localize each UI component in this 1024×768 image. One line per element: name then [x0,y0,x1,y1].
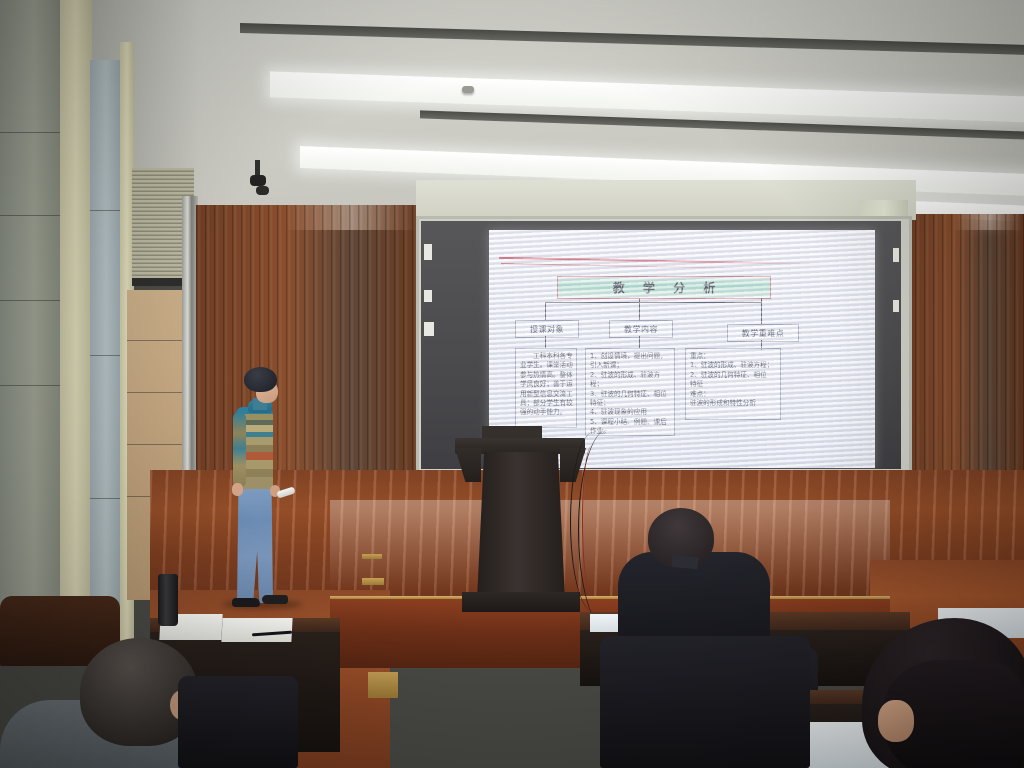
board-chalk-tray-mark [424,244,432,260]
body-keypoints-l1: 1、驻波的形成、驻波方程； [690,361,777,370]
panel-seam [0,132,62,133]
connector-down-right [761,298,762,324]
connector-down-left [545,302,546,320]
body-keypoints-l5: 驻波的形成和特性分析 [690,399,777,408]
panel-seam [0,215,62,216]
wall-panel-green-left [0,0,62,640]
body-content-l6: 5、课程小结、例题、课后 [590,418,671,427]
panel-seam [90,355,122,356]
board-chalk-tray-mark [424,322,434,336]
presenter-beanie [244,367,277,392]
body-keypoints-l3: 特征 [690,380,777,389]
thermos-flask[interactable] [158,574,178,626]
body-content-l3: 3、驻波的几何特征、相位 [590,390,671,399]
back-wall [416,180,916,220]
slide-accent-rule-2 [501,263,801,270]
body-content-l1: 引入新课； [590,361,671,370]
presenter-shoe-left [232,598,260,607]
body-audience-l6: 强的动手能力。 [520,408,573,417]
body-audience-l4: 用新型信息交流工 [520,390,573,399]
body-audience-l2: 参与热情高。整体 [520,371,573,380]
slide-title-box: 教 学 分 析 [557,276,771,299]
slide-title-text: 教 学 分 析 [606,279,723,296]
cabinet-seam [127,340,182,341]
body-audience: 工科本科各专 业学生。课堂活动 参与热情高。整体 学风良好；善于运 用新型信息交… [515,348,577,428]
cabinet-seam [127,392,182,393]
track-light-head2-icon [256,186,269,195]
connector-content-body [639,336,640,348]
node-audience: 授课对象 [515,320,579,338]
node-audience-label: 授课对象 [530,324,564,335]
body-keypoints-l4: 难点： [690,390,777,399]
chair-left-back[interactable] [178,676,298,768]
power-cable-red [582,446,601,596]
node-content: 教学内容 [609,320,673,338]
podium-body[interactable] [477,452,565,600]
chair-right[interactable] [600,636,810,768]
node-keypoints-label: 教学重难点 [742,328,785,339]
body-keypoints: 重点： 1、驻波的形成、驻波方程； 2、驻波的几何特征、相位 特征 难点： 驻波… [685,348,781,420]
body-audience-l1: 业学生。课堂活动 [520,361,573,370]
body-content: 1、创设情境，提出问题， 引入新课； 2、驻波的形成、驻波方程； 3、驻波的几何… [585,348,675,436]
panel-seam [0,300,62,301]
score-sheet-left-2 [221,618,292,642]
podium-base [462,592,580,612]
presenter-shoe-right [262,595,288,604]
board-chalk-tray-mark [893,248,899,262]
body-audience-l3: 学风良好；善于运 [520,380,573,389]
connector-audience-body [545,336,546,348]
presenter-arm [233,412,246,488]
evaluator-right-face [878,700,914,742]
node-content-label: 教学内容 [624,324,658,335]
floor-brass-plate-1 [362,578,384,585]
body-keypoints-l0: 重点： [690,352,777,361]
board-chalk-tray-mark [424,290,432,302]
track-light-head-icon [250,175,266,186]
stage-brass-plate [368,672,398,698]
board-chalk-tray-mark [893,300,899,312]
connector-trunk [545,302,761,303]
floor-brass-plate-2 [362,554,382,559]
panel-seam [90,210,122,211]
node-keypoints: 教学重难点 [727,324,799,342]
projection-screen: 教 学 分 析 授课对象 教学内容 教学重难点 工科本科各专 业学生。课堂活动 … [489,230,875,468]
body-content-l2: 2、驻波的形成、驻波方程； [590,371,671,390]
body-content-l5: 4、驻波现象的应用 [590,408,671,417]
body-content-l0: 1、创设情境，提出问题， [590,352,671,361]
cabinet-seam [127,444,182,445]
body-audience-l0: 工科本科各专 [520,352,573,361]
panel-seam [0,385,62,386]
evaluator-center-collar [671,555,698,570]
lecture-hall-photo: 教 学 分 析 授课对象 教学内容 教学重难点 工科本科各专 业学生。课堂活动 … [0,0,1024,768]
body-keypoints-l2: 2、驻波的几何特征、相位 [690,371,777,380]
smoke-detector-icon [462,86,474,93]
wall-pillar-beige [60,0,92,645]
panel-seam [90,498,122,499]
presenter-hand-left [232,483,243,496]
connector-down-center [639,298,640,320]
